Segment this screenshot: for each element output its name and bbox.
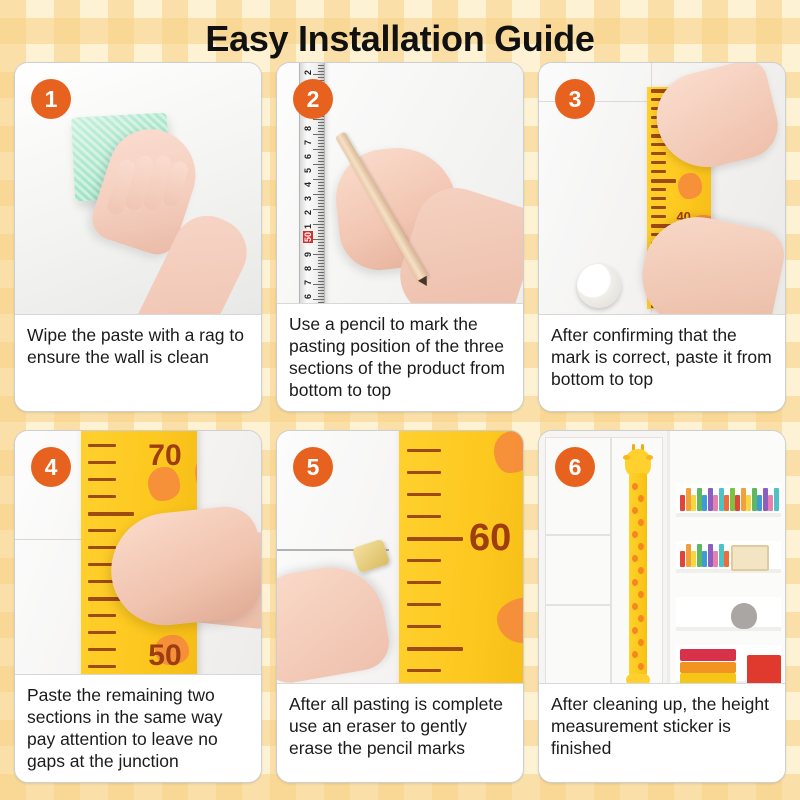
giraffe-spot xyxy=(638,495,644,502)
tape-tick xyxy=(318,290,324,291)
book xyxy=(686,544,691,567)
tape-tick xyxy=(318,257,324,258)
tape-tick xyxy=(318,143,324,144)
tape-number: 4 xyxy=(303,182,313,187)
tape-tick xyxy=(318,302,324,303)
tape-tick xyxy=(313,134,324,135)
tape-tick xyxy=(318,251,324,252)
book xyxy=(691,551,696,567)
giraffe-spot xyxy=(632,555,638,562)
ruler-tick xyxy=(407,625,441,628)
tape-tick xyxy=(318,167,324,168)
giraffe-spot xyxy=(632,651,638,658)
giraffe-spot xyxy=(195,453,197,493)
tape-tick xyxy=(318,71,324,72)
step-caption-3: After confirming that the mark is correc… xyxy=(539,315,785,411)
book xyxy=(708,544,713,567)
step-caption-4: Paste the remaining two sections in the … xyxy=(15,675,261,782)
step-caption-2: Use a pencil to mark the pasting positio… xyxy=(277,304,523,411)
step-photo-6: 6 xyxy=(539,431,785,684)
ruler-tick xyxy=(88,665,116,668)
book xyxy=(702,551,707,567)
tape-tick xyxy=(313,194,324,195)
tape-tick xyxy=(318,188,324,189)
book xyxy=(713,495,718,511)
ruler-number: 50 xyxy=(148,639,181,673)
ruler-tick xyxy=(88,631,116,634)
book xyxy=(697,544,702,567)
tape-tick xyxy=(318,170,324,171)
tape-tick xyxy=(318,131,324,132)
step-photo-2: 218098765432150987654 2 xyxy=(277,63,523,304)
book xyxy=(746,495,751,511)
book xyxy=(702,495,707,511)
ruler-tick xyxy=(407,537,463,541)
tape-tick xyxy=(318,293,324,294)
giraffe-spot xyxy=(638,519,644,526)
shelf-row xyxy=(676,483,781,517)
step-photo-3: 504030 3 xyxy=(539,63,785,315)
tape-tick xyxy=(318,215,324,216)
step-card-3[interactable]: 504030 3 After confirming that the mark … xyxy=(538,62,786,412)
ruler-tick xyxy=(88,529,116,532)
tape-tick xyxy=(318,296,324,297)
book xyxy=(763,488,768,511)
step-card-5[interactable]: 6050 5 After all pasting is complete use… xyxy=(276,430,524,783)
step-caption-1: Wipe the paste with a rag to ensure the … xyxy=(15,315,261,411)
tape-tick xyxy=(318,236,324,237)
tape-tick xyxy=(318,245,324,246)
giraffe-spot xyxy=(632,627,638,634)
tape-number: 50 xyxy=(303,231,313,243)
ruler-tick xyxy=(651,215,666,218)
ruler-tick xyxy=(88,461,116,464)
tape-tick xyxy=(318,263,324,264)
tape-tick xyxy=(318,176,324,177)
storage-bin xyxy=(680,649,736,661)
ruler-tick xyxy=(88,444,116,447)
ruler-tick xyxy=(88,512,134,516)
tape-tick xyxy=(318,158,324,159)
tape-tick xyxy=(318,272,324,273)
tape-tick xyxy=(318,173,324,174)
book xyxy=(680,551,685,567)
tape-number: 5 xyxy=(303,168,313,173)
ruler-tick xyxy=(407,559,441,562)
book xyxy=(719,488,724,511)
tape-tick xyxy=(318,230,324,231)
ruler-tick xyxy=(88,648,116,651)
ruler-tick xyxy=(407,647,463,651)
storage-bin xyxy=(747,655,781,684)
tape-tick xyxy=(318,182,324,183)
tape-tick xyxy=(313,254,324,255)
book xyxy=(691,495,696,511)
step-photo-5: 6050 5 xyxy=(277,431,523,684)
giraffe-spot xyxy=(632,507,638,514)
tape-tick xyxy=(318,233,324,234)
ruler-tick xyxy=(651,152,666,155)
ruler-tick xyxy=(651,161,666,164)
book xyxy=(735,495,740,511)
ruler-tick xyxy=(88,614,116,617)
wall-panel xyxy=(545,535,611,605)
giraffe-spot xyxy=(638,591,644,598)
tape-number: 7 xyxy=(303,280,313,285)
wall-seam xyxy=(15,539,85,540)
ruler-tick xyxy=(651,197,666,200)
ruler-tick xyxy=(651,179,677,183)
giraffe-spot xyxy=(632,603,638,610)
giraffe-spot xyxy=(638,543,644,550)
giraffe-spot xyxy=(632,579,638,586)
ruler-tick xyxy=(407,581,441,584)
tape-tick xyxy=(318,221,324,222)
step-photo-4: 7050 4 xyxy=(15,431,261,675)
ruler-number: 70 xyxy=(148,439,181,473)
ruler-tick xyxy=(407,669,441,672)
sticker-roll-icon xyxy=(577,264,621,308)
giraffe-spot xyxy=(497,597,523,643)
giraffe-spot xyxy=(632,483,638,490)
wall-panel xyxy=(545,605,611,684)
tape-tick xyxy=(318,122,324,123)
tape-tick xyxy=(318,128,324,129)
book xyxy=(730,488,735,511)
book xyxy=(708,488,713,511)
tape-tick xyxy=(318,77,324,78)
book xyxy=(697,488,702,511)
ruler-number: 60 xyxy=(469,517,511,560)
tape-number: 2 xyxy=(303,210,313,215)
tape-tick xyxy=(318,242,324,243)
tape-tick xyxy=(318,203,324,204)
ruler-tick xyxy=(651,170,666,173)
step-badge-1: 1 xyxy=(31,79,71,119)
bookshelf xyxy=(667,431,785,683)
tape-tick xyxy=(313,299,324,300)
tape-number: 8 xyxy=(303,266,313,271)
tape-tick xyxy=(313,164,324,165)
ruler-tick xyxy=(407,603,441,606)
book xyxy=(724,551,729,567)
step-card-6[interactable]: 6 After cleaning up, the height measurem… xyxy=(538,430,786,783)
tape-number: 8 xyxy=(303,126,313,131)
storage-bin xyxy=(680,673,736,684)
tape-tick xyxy=(313,209,324,210)
tape-tick xyxy=(318,206,324,207)
abacus-toy xyxy=(731,545,769,571)
tape-tick xyxy=(318,68,324,69)
book xyxy=(768,495,773,511)
giraffe-spot xyxy=(638,639,644,646)
ruler-tick xyxy=(407,515,441,518)
ruler-tick xyxy=(88,546,116,549)
ruler-tick xyxy=(407,493,441,496)
tape-tick xyxy=(313,119,324,120)
tape-tick xyxy=(318,227,324,228)
giraffe-height-chart-icon xyxy=(625,445,651,680)
storage-bin xyxy=(680,662,736,673)
book xyxy=(680,495,685,511)
tape-tick xyxy=(318,275,324,276)
tape-tick xyxy=(313,284,324,285)
tape-tick xyxy=(318,212,324,213)
step-badge-2: 2 xyxy=(293,79,333,119)
shelf-row xyxy=(676,597,781,631)
tape-number: 6 xyxy=(303,154,313,159)
step-badge-3: 3 xyxy=(555,79,595,119)
tape-tick xyxy=(313,179,324,180)
giraffe-ear xyxy=(623,455,630,460)
page-title: Easy Installation Guide xyxy=(0,0,800,62)
giraffe-foot xyxy=(626,674,650,684)
tape-tick xyxy=(318,260,324,261)
ruler-tick xyxy=(88,478,116,481)
tape-tick xyxy=(318,197,324,198)
ruler-tick xyxy=(407,471,441,474)
stuffed-elephant-toy xyxy=(731,603,757,629)
tape-tick xyxy=(313,74,324,75)
step-card-2[interactable]: 218098765432150987654 2 Use a pencil to … xyxy=(276,62,524,412)
step-card-1[interactable]: 1 Wipe the paste with a rag to ensure th… xyxy=(14,62,262,412)
giraffe-spot xyxy=(678,173,702,199)
tape-tick xyxy=(313,149,324,150)
giraffe-spot xyxy=(638,567,644,574)
tape-tick xyxy=(318,185,324,186)
ruler-tick xyxy=(88,495,116,498)
book xyxy=(686,488,691,511)
book xyxy=(757,495,762,511)
step-card-4[interactable]: 7050 4 Paste the remaining two sections … xyxy=(14,430,262,783)
tape-number: 6 xyxy=(303,294,313,299)
tape-tick xyxy=(318,155,324,156)
book xyxy=(774,488,779,511)
tape-tick xyxy=(318,140,324,141)
tape-tick xyxy=(318,287,324,288)
giraffe-spot xyxy=(494,431,523,473)
giraffe-spot xyxy=(638,663,644,670)
ruler-tick xyxy=(651,188,666,191)
height-ruler-sticker: 6050 xyxy=(399,431,523,684)
giraffe-spot xyxy=(638,615,644,622)
step-photo-1: 1 xyxy=(15,63,261,315)
tape-number: 9 xyxy=(303,252,313,257)
giraffe-body xyxy=(629,473,647,676)
tape-number: 3 xyxy=(303,196,313,201)
ruler-tick xyxy=(407,449,441,452)
step-badge-6: 6 xyxy=(555,447,595,487)
tape-tick xyxy=(318,281,324,282)
tape-number: 2 xyxy=(303,70,313,75)
step-caption-6: After cleaning up, the height measuremen… xyxy=(539,684,785,782)
tape-tick xyxy=(318,266,324,267)
tape-tick xyxy=(318,278,324,279)
giraffe-spot xyxy=(632,531,638,538)
tape-tick xyxy=(318,65,324,66)
tape-tick xyxy=(318,191,324,192)
book xyxy=(741,488,746,511)
step-badge-4: 4 xyxy=(31,447,71,487)
step-caption-5: After all pasting is complete use an era… xyxy=(277,684,523,782)
steps-grid: 1 Wipe the paste with a rag to ensure th… xyxy=(0,62,800,797)
tape-tick xyxy=(318,152,324,153)
step-badge-5: 5 xyxy=(293,447,333,487)
tape-tick xyxy=(313,224,324,225)
tape-tick xyxy=(318,146,324,147)
ruler-tick xyxy=(651,206,666,209)
tape-tick xyxy=(318,200,324,201)
tape-tick xyxy=(313,269,324,270)
tape-tick xyxy=(318,137,324,138)
giraffe-ear xyxy=(646,455,653,460)
tape-tick xyxy=(318,218,324,219)
tape-tick xyxy=(318,125,324,126)
tape-number: 7 xyxy=(303,140,313,145)
book xyxy=(719,544,724,567)
book xyxy=(752,488,757,511)
tape-number: 1 xyxy=(303,224,313,229)
book xyxy=(724,495,729,511)
tape-tick xyxy=(318,248,324,249)
tape-tick xyxy=(318,161,324,162)
book xyxy=(713,551,718,567)
tape-tick xyxy=(313,239,324,240)
